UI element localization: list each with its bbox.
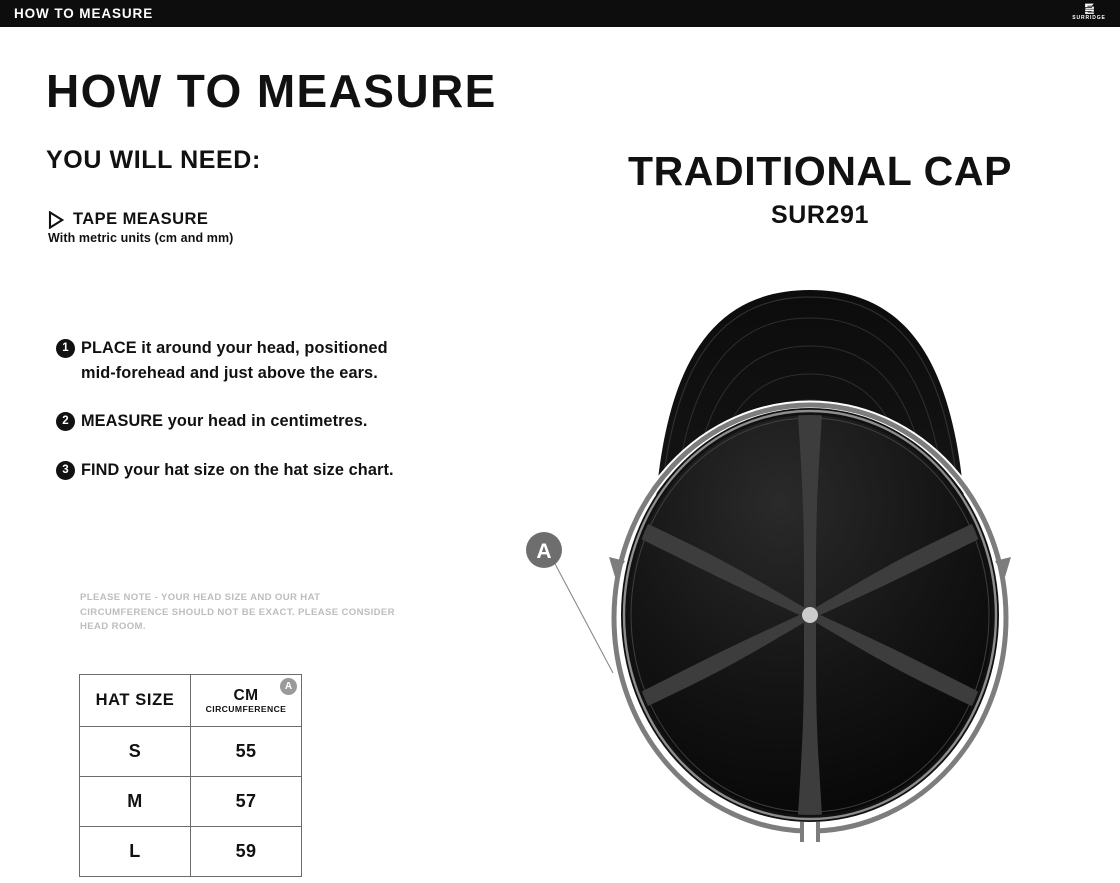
header-hat-size-label: HAT SIZE [96,691,175,709]
steps-list: 1 PLACE it around your head, positioned … [56,336,416,482]
step-item: 1 PLACE it around your head, positioned … [56,336,416,385]
table-header-row: HAT SIZE CM CIRCUMFERENCE A [80,675,302,727]
how-to-measure-page: HOW TO MEASURE SURRIDGE HOW TO MEASURE Y… [0,0,1120,883]
cell-cm: 59 [191,827,302,877]
step-text: FIND your hat size on the hat size chart… [81,458,394,483]
surridge-s-icon [1082,1,1097,16]
cap-diagram: A [505,270,1045,883]
callout-a-label: A [536,540,551,563]
header-cm-circumference: CM CIRCUMFERENCE A [191,675,302,727]
tape-measure-item: TAPE MEASURE With metric units (cm and m… [48,210,378,245]
measure-callout: A [526,532,613,673]
step-number-badge: 3 [56,461,75,480]
table-row: S 55 [80,727,302,777]
cell-cm: 55 [191,727,302,777]
top-bar: HOW TO MEASURE SURRIDGE [0,0,1120,27]
step-item: 3 FIND your hat size on the hat size cha… [56,458,416,483]
header-circumference-label: CIRCUMFERENCE [191,704,301,715]
page-title: HOW TO MEASURE [46,64,497,118]
cap-crown [621,408,999,822]
you-will-need-heading: YOU WILL NEED: [46,146,261,175]
play-triangle-icon [48,211,64,229]
step-text: MEASURE your head in centimetres. [81,409,367,434]
cell-hat-size: M [80,777,191,827]
tape-measure-label: TAPE MEASURE [73,210,208,229]
table-row: M 57 [80,777,302,827]
cell-cm: 57 [191,777,302,827]
cell-hat-size: S [80,727,191,777]
measurement-a-badge: A [280,678,297,695]
crown-center-button [802,607,818,623]
step-text: PLACE it around your head, positioned mi… [81,336,416,385]
cap-top-view-icon: A [505,270,1045,883]
step-number-badge: 1 [56,339,75,358]
cell-hat-size: L [80,827,191,877]
hat-size-table: HAT SIZE CM CIRCUMFERENCE A S 55 M 57 L … [79,674,302,877]
product-code: SUR291 [560,201,1080,230]
step-item: 2 MEASURE your head in centimetres. [56,409,416,434]
table-row: L 59 [80,827,302,877]
brand-name: SURRIDGE [1066,15,1112,21]
top-bar-title: HOW TO MEASURE [14,6,153,21]
brand-logo: SURRIDGE [1066,1,1112,26]
product-title: TRADITIONAL CAP [560,148,1080,195]
header-hat-size: HAT SIZE [80,675,191,727]
tape-measure-sublabel: With metric units (cm and mm) [48,231,378,245]
please-note-text: PLEASE NOTE - YOUR HEAD SIZE AND OUR HAT… [80,591,410,635]
step-number-badge: 2 [56,412,75,431]
